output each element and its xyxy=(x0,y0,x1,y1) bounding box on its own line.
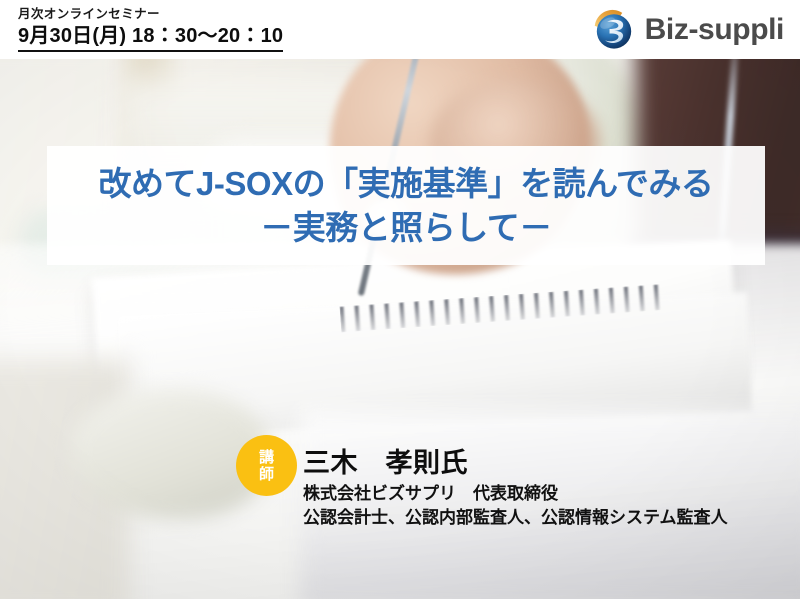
seminar-banner: 月次オンラインセミナー 9月30日(月) 18：30〜20：10 xyxy=(0,0,800,599)
header-text-group: 月次オンラインセミナー 9月30日(月) 18：30〜20：10 xyxy=(18,6,283,52)
speaker-badge-char-1: 講 xyxy=(259,449,274,466)
brand-logo-text: Biz-suppli xyxy=(645,8,784,52)
speaker-role: 株式会社ビズサプリ 代表取締役 xyxy=(303,482,728,506)
speaker-name: 三木 孝則氏 xyxy=(303,448,728,479)
seminar-kicker: 月次オンラインセミナー xyxy=(18,6,283,22)
title-band: 改めてJ-SOXの「実施基準」を読んでみる －実務と照らして－ xyxy=(47,146,765,265)
title-line-1: 改めてJ-SOXの「実施基準」を読んでみる xyxy=(99,162,714,206)
speaker-label-badge: 講 師 xyxy=(236,435,297,496)
header-bar: 月次オンラインセミナー 9月30日(月) 18：30〜20：10 xyxy=(0,0,800,59)
biz-suppli-globe-icon xyxy=(592,8,636,52)
speaker-details: 三木 孝則氏 株式会社ビズサプリ 代表取締役 公認会計士、公認内部監査人、公認情… xyxy=(303,433,728,530)
brand-logo[interactable]: Biz-suppli xyxy=(592,8,784,52)
speaker-badge-char-2: 師 xyxy=(259,466,274,483)
speaker-block: 講 師 三木 孝則氏 株式会社ビズサプリ 代表取締役 公認会計士、公認内部監査人… xyxy=(236,433,728,530)
speaker-credentials: 公認会計士、公認内部監査人、公認情報システム監査人 xyxy=(303,506,728,530)
title-line-2: －実務と照らして－ xyxy=(260,206,552,250)
seminar-datetime: 9月30日(月) 18：30〜20：10 xyxy=(18,23,283,52)
